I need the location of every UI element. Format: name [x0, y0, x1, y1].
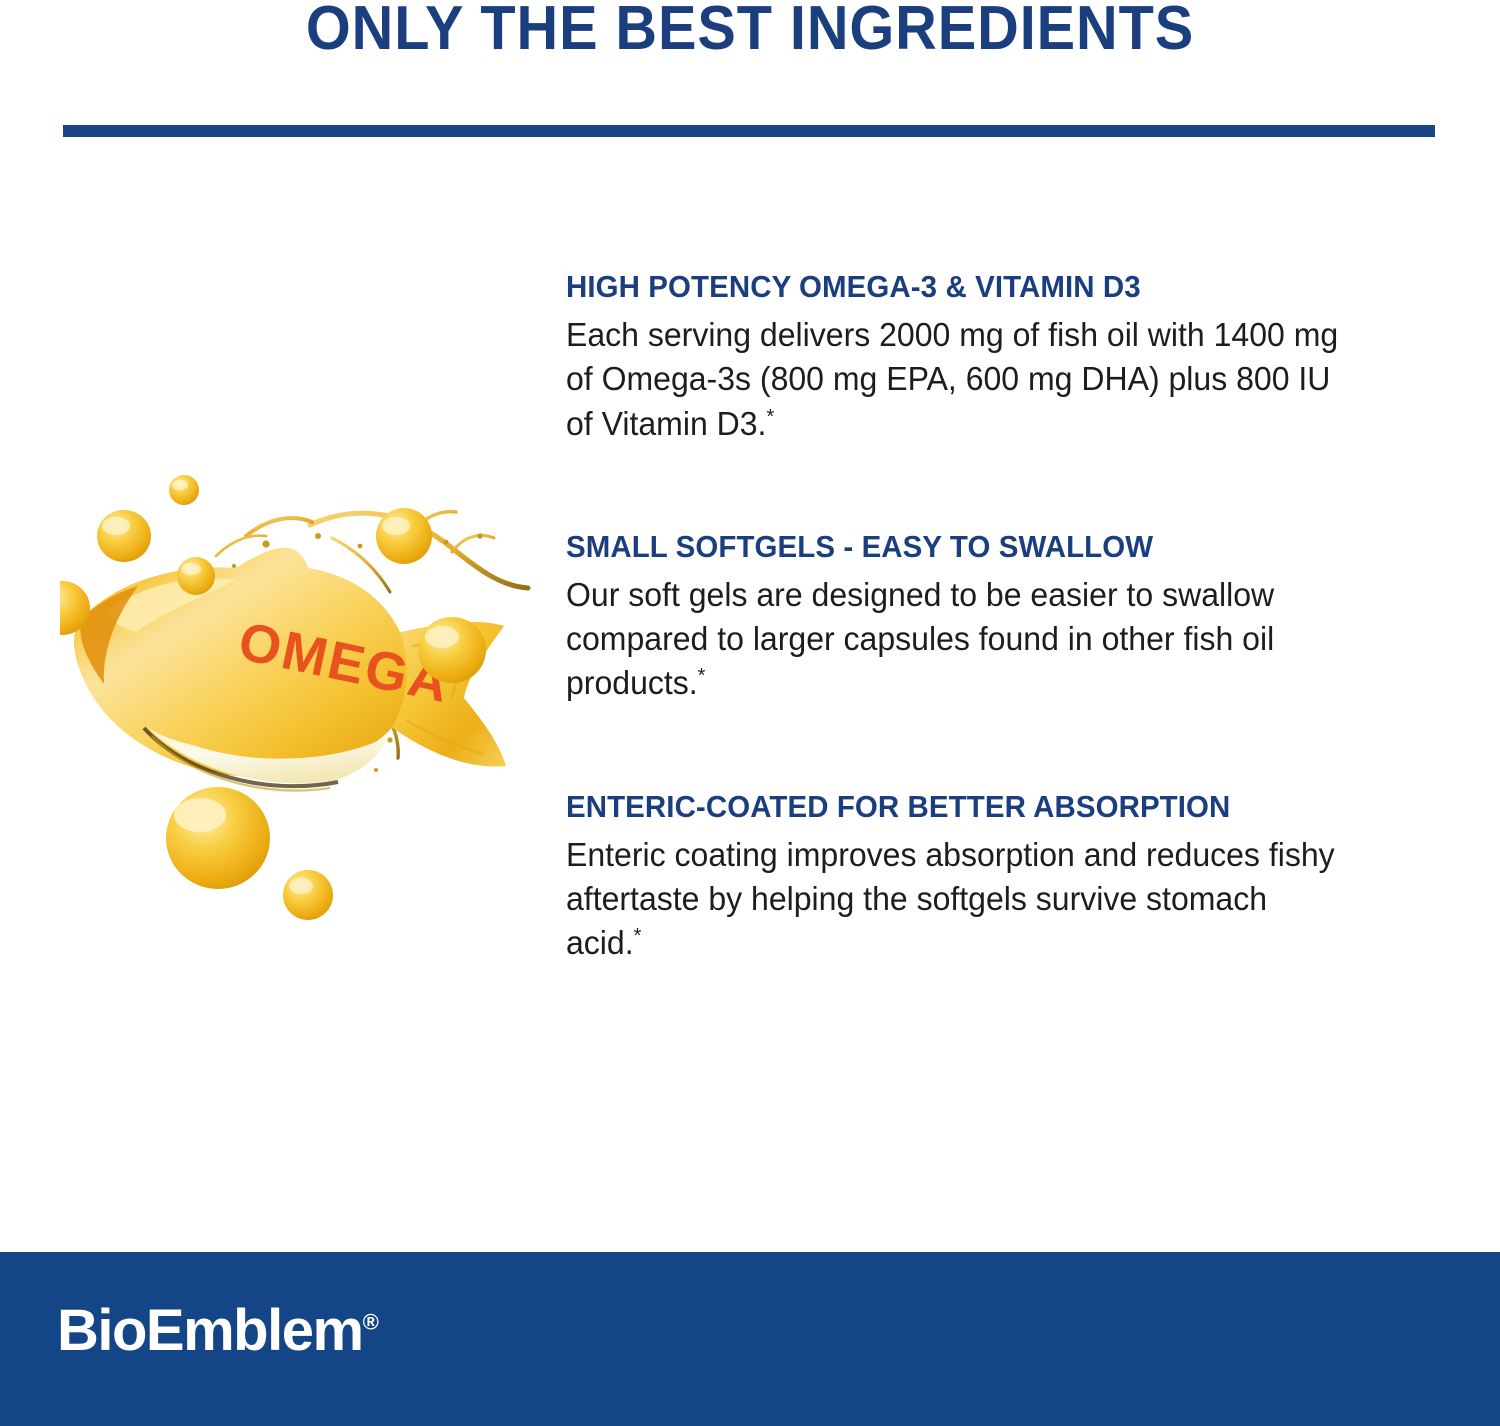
- feature-heading-1: HIGH POTENCY OMEGA-3 & VITAMIN D3: [566, 268, 1421, 305]
- feature-list: HIGH POTENCY OMEGA-3 & VITAMIN D3 Each s…: [566, 268, 1466, 966]
- feature-footnote-marker-1: *: [766, 405, 774, 428]
- omega-fish-softgel-image: OMEGA: [60, 440, 560, 930]
- feature-block-1: HIGH POTENCY OMEGA-3 & VITAMIN D3 Each s…: [566, 268, 1466, 446]
- feature-footnote-marker-3: *: [634, 924, 642, 947]
- header-divider-rule: [63, 125, 1435, 137]
- page-title: ONLY THE BEST INGREDIENTS: [53, 0, 1448, 61]
- feature-body-text-1: Each serving delivers 2000 mg of fish oi…: [566, 316, 1338, 441]
- feature-footnote-marker-2: *: [698, 664, 706, 687]
- feature-body-3: Enteric coating improves absorption and …: [566, 833, 1342, 966]
- feature-block-2: SMALL SOFTGELS - EASY TO SWALLOW Our sof…: [566, 528, 1466, 706]
- feature-body-text-2: Our soft gels are designed to be easier …: [566, 576, 1274, 701]
- brand-logo: BioEmblem®: [57, 1302, 379, 1360]
- registered-trademark-icon: ®: [363, 1310, 379, 1335]
- feature-heading-3: ENTERIC-COATED FOR BETTER ABSORPTION: [566, 788, 1421, 825]
- feature-body-2: Our soft gels are designed to be easier …: [566, 573, 1342, 706]
- brand-name: BioEmblem: [57, 1298, 363, 1363]
- feature-body-text-3: Enteric coating improves absorption and …: [566, 836, 1335, 961]
- feature-body-1: Each serving delivers 2000 mg of fish oi…: [566, 313, 1342, 446]
- feature-heading-2: SMALL SOFTGELS - EASY TO SWALLOW: [566, 528, 1421, 565]
- feature-block-3: ENTERIC-COATED FOR BETTER ABSORPTION Ent…: [566, 788, 1466, 966]
